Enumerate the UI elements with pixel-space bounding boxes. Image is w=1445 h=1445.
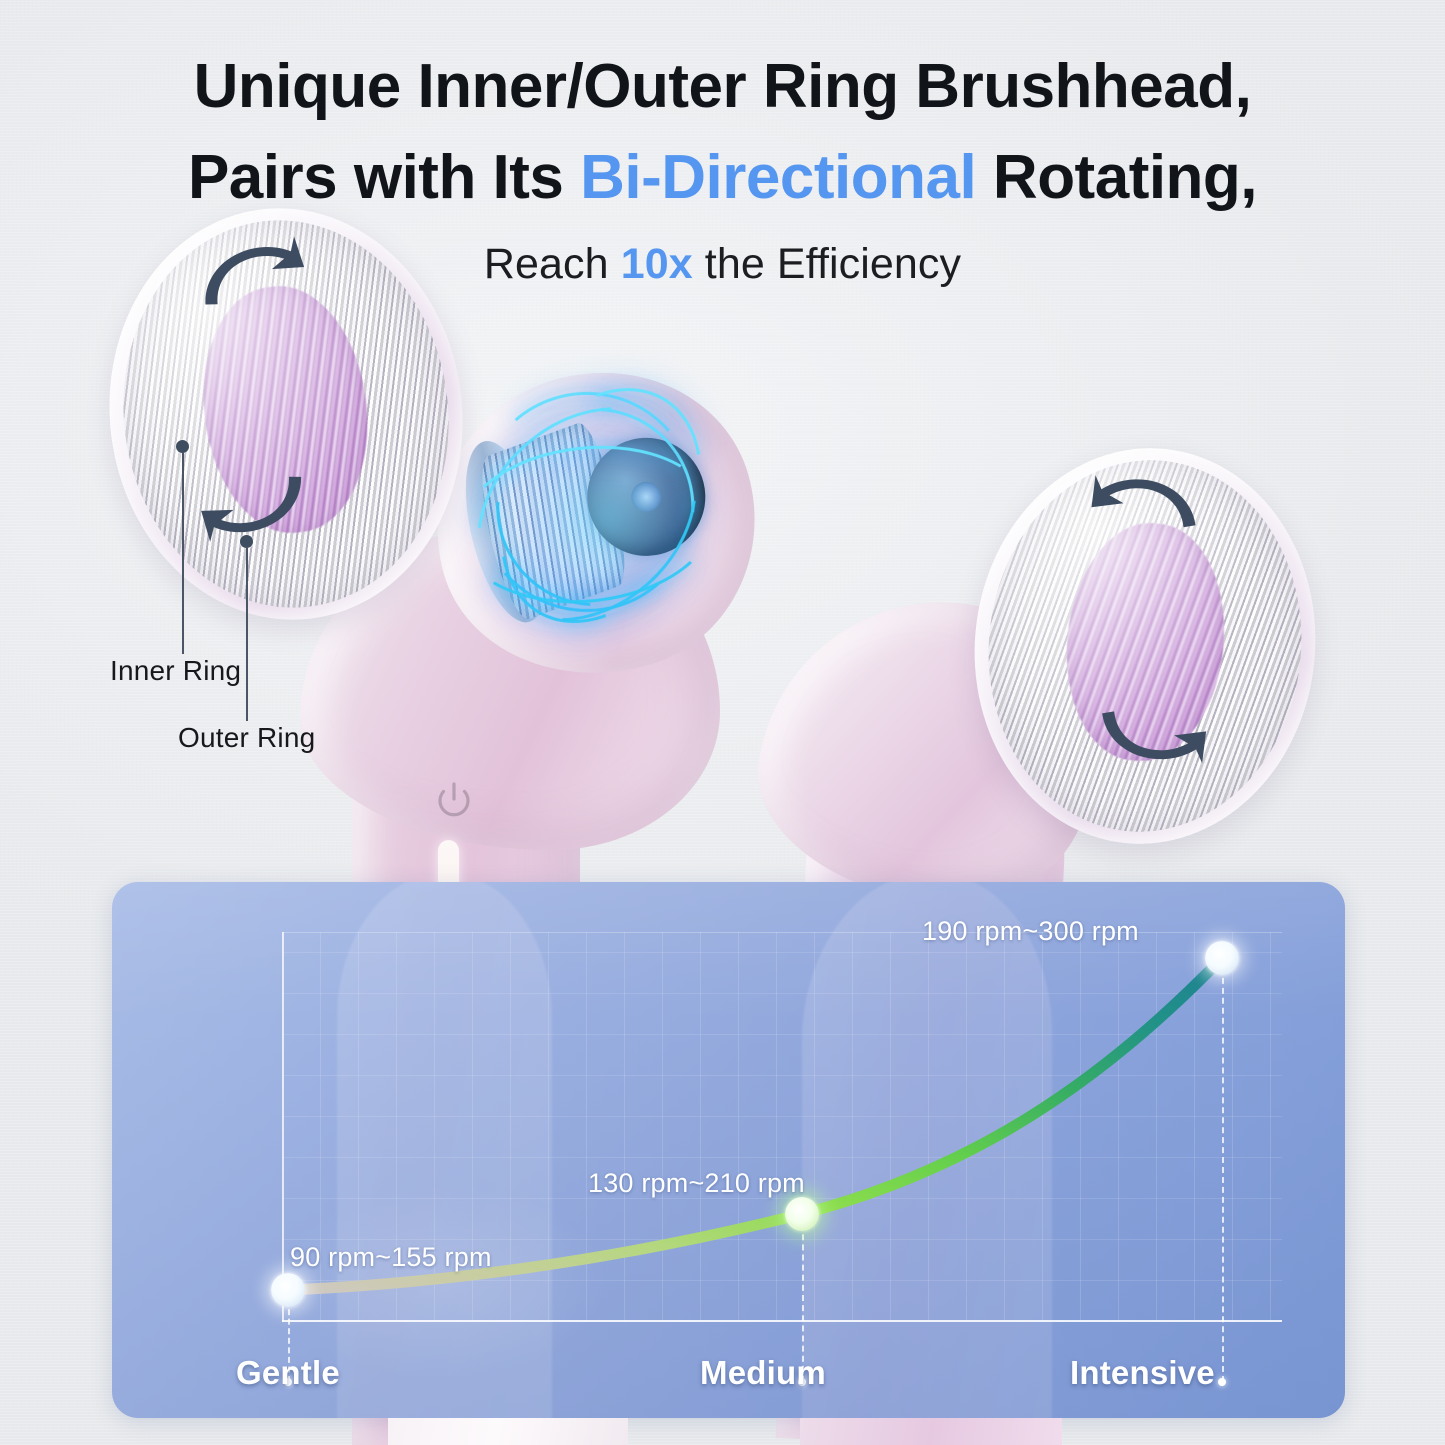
headline: Unique Inner/Outer Ring Brushhead, Pairs… [0,42,1445,223]
motor-glow-core [512,430,702,610]
headline-line-1-text: Unique Inner/Outer Ring Brushhead, [194,52,1252,121]
subheadline-post: the Efficiency [693,240,961,288]
device-main-head-housing [401,336,791,713]
chart-plot-area: 90 rpm~155 rpm 130 rpm~210 rpm 190 rpm~3… [282,932,1282,1322]
brushhead-rim [955,431,1335,860]
subheadline-pre: Reach [484,240,621,288]
device-secondary-handle-bottom [800,1418,1062,1445]
chart-label-medium-rpm: 130 rpm~210 rpm [588,1168,805,1199]
motor-collar [450,433,563,630]
callout-label-outer-ring: Outer Ring [178,722,315,754]
outer-ring-bristles [970,445,1320,848]
device-secondary-head-body [743,578,1112,921]
headline-line-2-post: Rotating, [976,143,1257,212]
swirl-ring-3 [434,364,740,666]
headline-line-2: Pairs with Its Bi-Directional Rotating, [0,133,1445,224]
swirl-ring-5 [451,433,724,615]
rotate-arrow-counterclockwise-icon [192,451,314,555]
brushhead-highlight [955,431,1335,860]
speed-chart-panel: 90 rpm~155 rpm 130 rpm~210 rpm 190 rpm~3… [112,882,1345,1418]
device-main-handle-bottom [388,1418,628,1445]
motor-drive-cap [575,425,718,568]
chart-label-intensive-rpm: 190 rpm~300 rpm [922,916,1139,947]
swirl-ring-4 [460,352,743,660]
chart-point-gentle[interactable] [271,1273,305,1307]
subheadline: Reach 10x the Efficiency [0,240,1445,289]
power-icon [436,780,472,820]
chart-category-intensive: Intensive [1070,1354,1215,1392]
device-main-neck [300,520,720,850]
subheadline-accent-10x: 10x [621,240,693,288]
inner-ring-bristles [1055,516,1235,769]
headline-line-2-pre: Pairs with Its [188,143,580,212]
callout-leader-inner-ring [182,452,184,654]
callout-leader-outer-ring [246,547,248,721]
chart-point-intensive[interactable] [1205,941,1239,975]
rotate-arrow-counterclockwise-icon [1090,463,1200,551]
motor-gear-barrel [472,417,635,625]
infographic-canvas: Unique Inner/Outer Ring Brushhead, Pairs… [0,0,1445,1445]
brushhead-secondary [955,431,1335,860]
swirl-ring-1 [469,385,704,620]
chart-dropline-intensive [1222,958,1224,1382]
chart-category-gentle: Gentle [236,1354,340,1392]
chart-category-medium: Medium [700,1354,826,1392]
rotate-arrow-clockwise-icon [1098,687,1208,775]
chart-label-gentle-rpm: 90 rpm~155 rpm [290,1242,492,1273]
motion-swirl-glow [424,340,785,694]
swirl-ring-2 [455,367,735,647]
chart-point-medium[interactable] [785,1197,819,1231]
headline-accent-bidirectional: Bi-Directional [580,143,976,212]
motor-assembly [446,374,735,655]
headline-line-1: Unique Inner/Outer Ring Brushhead, [0,42,1445,133]
callout-label-inner-ring: Inner Ring [110,655,241,687]
chart-axis-tick-intensive [1218,1378,1226,1386]
inner-ring-bristles [190,277,381,542]
